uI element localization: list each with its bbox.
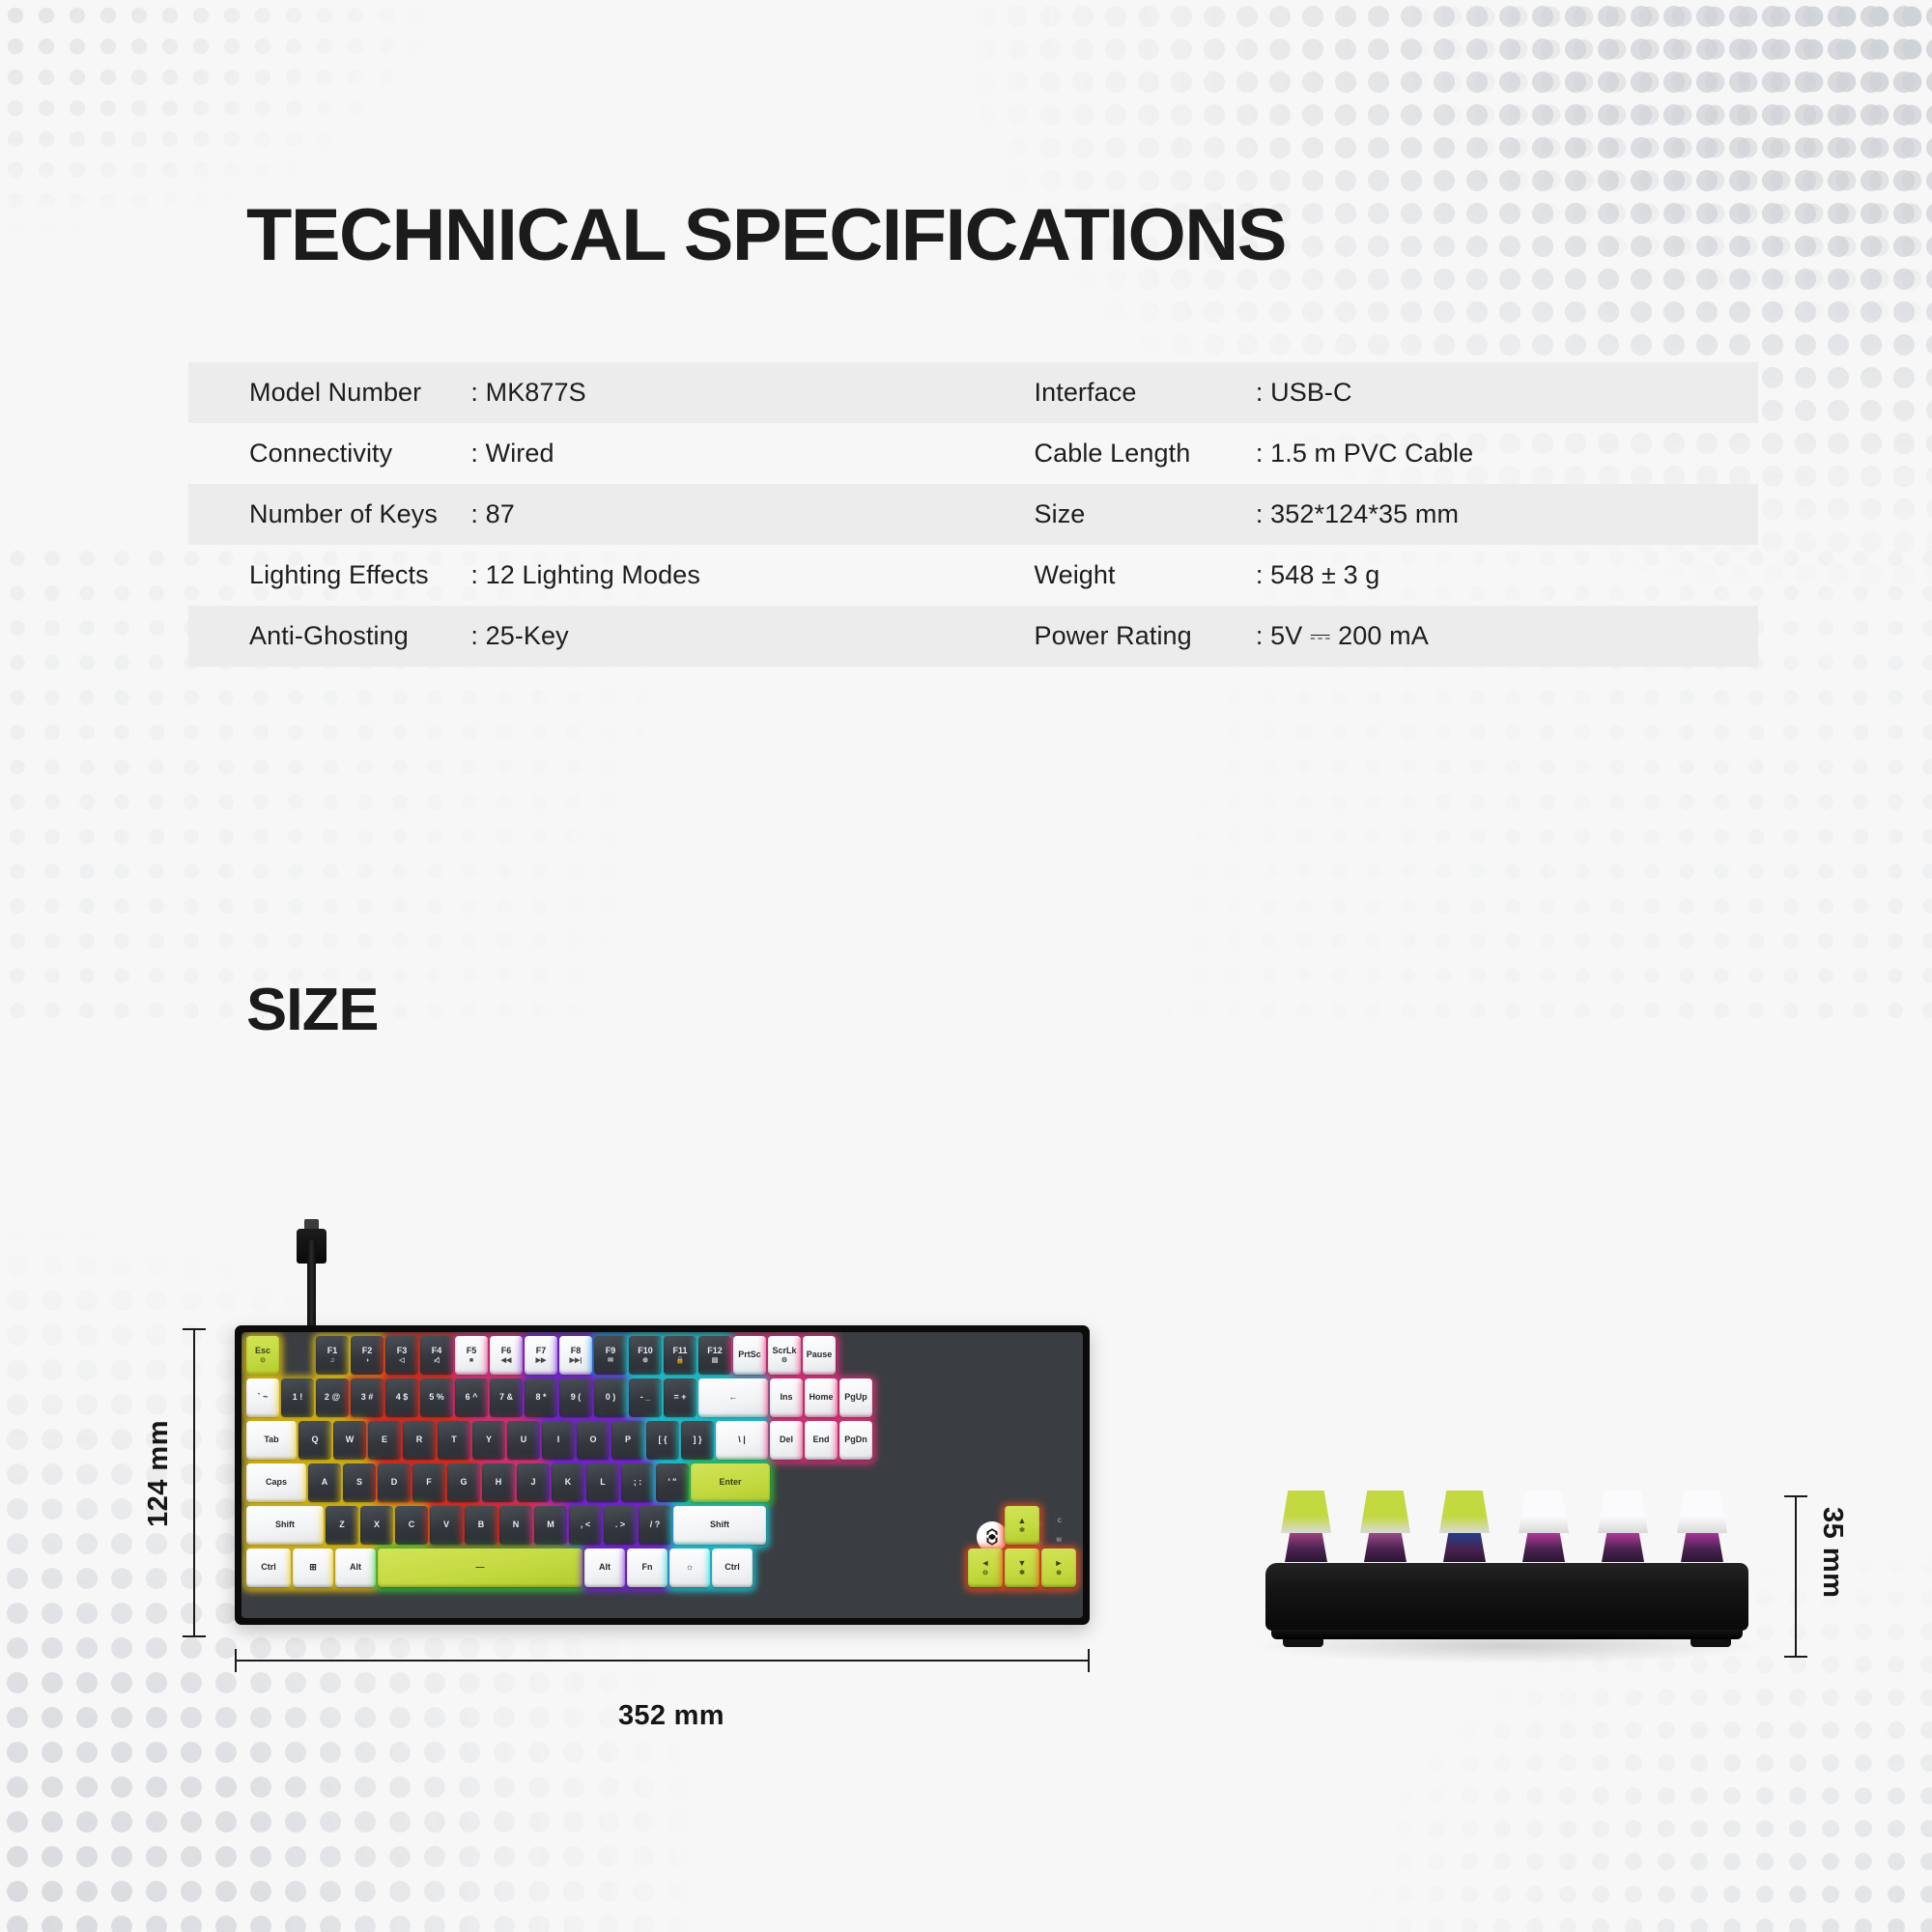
key-PgDn[interactable]: PgDn: [839, 1421, 872, 1460]
side-view-keycap: [1281, 1491, 1331, 1533]
keycap[interactable]: Shift: [673, 1506, 766, 1545]
keyboard-row-gap: [281, 1336, 314, 1375]
keycap[interactable]: F12▤: [698, 1336, 731, 1375]
keycap[interactable]: Y: [472, 1421, 505, 1460]
keycap-label: 0 ): [606, 1393, 616, 1402]
key-C[interactable]: C: [395, 1506, 428, 1545]
spec-label-right-text: Size: [1035, 499, 1086, 529]
key-[interactable]: , <: [569, 1506, 602, 1545]
keycap[interactable]: PrtSc: [733, 1336, 766, 1375]
keycap[interactable]: Ctrl: [246, 1548, 291, 1587]
keycap-label: F7: [536, 1347, 547, 1355]
keycap-secondary-icon: ▶▶|: [570, 1357, 582, 1364]
key-Shift[interactable]: Shift: [673, 1506, 766, 1545]
spec-label-right: Weight: [974, 560, 1256, 590]
key-3[interactable]: 3 #: [351, 1378, 384, 1417]
key-9[interactable]: 9 (: [559, 1378, 592, 1417]
keycap-label: G: [460, 1478, 467, 1487]
indicator-label-2: W: [1056, 1538, 1062, 1544]
side-view-keycap: [1598, 1491, 1648, 1533]
key-X[interactable]: X: [360, 1506, 393, 1545]
keycap[interactable]: F9✉: [594, 1336, 627, 1375]
spec-value-left: : Wired: [470, 439, 973, 469]
keycap-secondary-icon: ⊕: [642, 1357, 648, 1364]
height-dimension-label: 35 mm: [1816, 1507, 1848, 1598]
spec-label-left-text: Lighting Effects: [249, 560, 429, 590]
keycap[interactable]: F3◁: [385, 1336, 418, 1375]
key-F[interactable]: F: [412, 1463, 445, 1502]
spec-label-left-text: Anti-Ghosting: [249, 621, 409, 651]
keycap-secondary-icon: ⊖: [982, 1570, 988, 1577]
keycap-label: ; :: [634, 1478, 642, 1487]
keycap[interactable]: F7▶▶: [525, 1336, 557, 1375]
keycap-secondary-icon: ♫: [329, 1357, 334, 1364]
keycap[interactable]: 8 *: [525, 1378, 557, 1417]
keycap-label: V: [443, 1520, 449, 1529]
arrow-key-up[interactable]: ▲✻: [1005, 1506, 1039, 1545]
keycap[interactable]: . >: [604, 1506, 637, 1545]
keycap[interactable]: F8▶▶|: [559, 1336, 592, 1375]
key-F12[interactable]: F12▤: [698, 1336, 731, 1375]
key-Del[interactable]: Del: [770, 1421, 803, 1460]
keycap-label: M: [547, 1520, 554, 1529]
keycap-label: - _: [640, 1393, 651, 1402]
keycap-label: ' ": [668, 1478, 677, 1487]
keycap-label: Ctrl: [261, 1563, 276, 1572]
key-E[interactable]: E: [368, 1421, 401, 1460]
spec-value-left: : MK877S: [470, 378, 973, 408]
key-[interactable]: = +: [664, 1378, 696, 1417]
spec-value-right: : 548 ± 3 g: [1256, 560, 1758, 590]
keycap-label: N: [513, 1520, 520, 1529]
key-[interactable]: / ?: [639, 1506, 671, 1545]
keycap-label: Fn: [642, 1563, 653, 1572]
keycap-label: P: [625, 1435, 631, 1444]
key-I[interactable]: I: [542, 1421, 575, 1460]
key-[interactable]: ☼: [669, 1548, 710, 1587]
side-view-keycap: [1360, 1491, 1410, 1533]
spec-row: Connectivity: WiredCable Length: 1.5 m P…: [188, 423, 1758, 484]
key-F1[interactable]: F1♫: [316, 1336, 349, 1375]
keycap[interactable]: F5■: [455, 1336, 488, 1375]
spec-value-right-text: : 548 ± 3 g: [1256, 560, 1380, 590]
spec-row: Number of Keys: 87Size: 352*124*35 mm: [188, 484, 1758, 545]
keycap[interactable]: V: [430, 1506, 463, 1545]
key-F5[interactable]: F5■: [455, 1336, 488, 1375]
keycap-label: U: [521, 1435, 527, 1444]
key-Enter[interactable]: Enter: [691, 1463, 770, 1502]
keycap[interactable]: ◄⊖: [968, 1548, 1003, 1587]
side-view-key: [1360, 1491, 1410, 1562]
keycap[interactable]: F2◑: [351, 1336, 384, 1375]
key-6[interactable]: 6 ^: [455, 1378, 488, 1417]
height-dimension-line: [1795, 1495, 1797, 1658]
keycap[interactable]: ►⊛: [1041, 1548, 1076, 1587]
key-A[interactable]: A: [308, 1463, 341, 1502]
key-F7[interactable]: F7▶▶: [525, 1336, 557, 1375]
keycap[interactable]: Fn: [627, 1548, 668, 1587]
keycap[interactable]: = +: [664, 1378, 696, 1417]
keycap[interactable]: X: [360, 1506, 393, 1545]
key-[interactable]: \ |: [716, 1421, 768, 1460]
keycap-label: ←: [729, 1393, 738, 1402]
keycap[interactable]: Home: [805, 1378, 838, 1417]
key-[interactable]: ` ~: [246, 1378, 279, 1417]
key-[interactable]: ←: [698, 1378, 768, 1417]
keycap-label: F1: [327, 1347, 338, 1355]
keycap-label: Q: [311, 1435, 318, 1444]
keycap-label: Caps: [266, 1478, 287, 1487]
keycap-label: Y: [486, 1435, 492, 1444]
side-view-keycap: [1519, 1491, 1569, 1533]
spec-label-left: Connectivity: [188, 439, 470, 469]
key-F9[interactable]: F9✉: [594, 1336, 627, 1375]
keycap[interactable]: H: [482, 1463, 515, 1502]
key-7[interactable]: 7 &: [490, 1378, 523, 1417]
keycap[interactable]: F11🔒: [664, 1336, 696, 1375]
keycap-label: Shift: [710, 1520, 729, 1529]
keycap[interactable]: 6 ^: [455, 1378, 488, 1417]
keycap-label: F11: [672, 1347, 687, 1355]
key-Z[interactable]: Z: [326, 1506, 358, 1545]
keycap-label: . >: [615, 1520, 625, 1529]
key-Alt[interactable]: Alt: [335, 1548, 376, 1587]
keycap[interactable]: Caps: [246, 1463, 306, 1502]
keycap-label: T: [451, 1435, 457, 1444]
arrow-key-down[interactable]: ▼✱: [1005, 1548, 1039, 1587]
keycap[interactable]: —: [378, 1548, 582, 1587]
key-V[interactable]: V: [430, 1506, 463, 1545]
keycap[interactable]: B: [465, 1506, 497, 1545]
keycap-label: F3: [397, 1347, 408, 1355]
side-view-keycap: [1439, 1491, 1490, 1533]
keycap-secondary-icon: ✉: [608, 1357, 613, 1364]
key-[interactable]: ' ": [656, 1463, 689, 1502]
keycap-label: F10: [638, 1347, 653, 1355]
keycap[interactable]: L: [586, 1463, 619, 1502]
key-4[interactable]: 4 $: [385, 1378, 418, 1417]
spec-value-right-text: : 1.5 m PVC Cable: [1256, 439, 1473, 469]
depth-dimension-line: [193, 1328, 195, 1637]
keycap-label: C: [409, 1520, 415, 1529]
spec-label-right: Cable Length: [974, 439, 1256, 469]
keycap[interactable]: - _: [629, 1378, 662, 1417]
key-[interactable]: - _: [629, 1378, 662, 1417]
keycap-secondary-icon: ■: [469, 1357, 473, 1364]
key-B[interactable]: B: [465, 1506, 497, 1545]
keycap[interactable]: M: [534, 1506, 567, 1545]
keycap-label: = +: [673, 1393, 686, 1402]
key-8[interactable]: 8 *: [525, 1378, 557, 1417]
key-O[interactable]: O: [577, 1421, 610, 1460]
keycap[interactable]: 9 (: [559, 1378, 592, 1417]
keycap-secondary-icon: ✻: [1019, 1527, 1025, 1534]
key-End[interactable]: End: [805, 1421, 838, 1460]
keycap[interactable]: 5 %: [420, 1378, 453, 1417]
keycap[interactable]: 7 &: [490, 1378, 523, 1417]
keycap[interactable]: Z: [326, 1506, 358, 1545]
keycap-label: Pause: [807, 1350, 833, 1359]
keycap[interactable]: 1 !: [281, 1378, 314, 1417]
keycap[interactable]: [ {: [646, 1421, 679, 1460]
keycap[interactable]: 4 $: [385, 1378, 418, 1417]
key-[interactable]: [ {: [646, 1421, 679, 1460]
keycap-label: F9: [606, 1347, 616, 1355]
keycap[interactable]: Q: [298, 1421, 331, 1460]
keycap-label: PgDn: [844, 1435, 867, 1444]
keycap[interactable]: W: [333, 1421, 366, 1460]
keycap-secondary-icon: ⊙: [260, 1357, 266, 1364]
key-Caps[interactable]: Caps: [246, 1463, 306, 1502]
key-Pause[interactable]: Pause: [803, 1336, 836, 1375]
key-[interactable]: ; :: [621, 1463, 654, 1502]
keycap[interactable]: J: [517, 1463, 550, 1502]
keyboard-row-qwerty-row: TabQWERTYUIOP[ {] }\ |DelEndPgDn: [241, 1421, 872, 1460]
side-view-keycap: [1677, 1491, 1727, 1533]
key-Alt[interactable]: Alt: [584, 1548, 625, 1587]
key-[interactable]: ⊞: [293, 1548, 333, 1587]
keycap-label: F6: [501, 1347, 512, 1355]
spec-label-left: Lighting Effects: [188, 560, 470, 590]
keycap[interactable]: PgUp: [839, 1378, 872, 1417]
key-T[interactable]: T: [438, 1421, 470, 1460]
keycap[interactable]: Tab: [246, 1421, 297, 1460]
keycap[interactable]: ] }: [681, 1421, 714, 1460]
keycap-label: Del: [780, 1435, 793, 1444]
keycap-secondary-icon: ⚙: [781, 1357, 787, 1364]
key-ScrLk[interactable]: ScrLk⚙: [768, 1336, 801, 1375]
page-title-technical-specifications: TECHNICAL SPECIFICATIONS: [246, 193, 1286, 277]
key-Y[interactable]: Y: [472, 1421, 505, 1460]
keycap[interactable]: Esc⊙: [246, 1336, 279, 1375]
key-N[interactable]: N: [499, 1506, 532, 1545]
keycap-label: 9 (: [571, 1393, 582, 1402]
side-view-key: [1439, 1491, 1490, 1562]
section-title-size: SIZE: [246, 976, 378, 1044]
specifications-table: Model Number: MK877SInterface: USB-CConn…: [188, 362, 1758, 667]
key-U[interactable]: U: [507, 1421, 540, 1460]
key-L[interactable]: L: [586, 1463, 619, 1502]
keyboard-row-function-row: Esc⊙F1♫F2◑F3◁F4◁̸F5■F6◀◀F7▶▶F8▶▶|F9✉F10⊕…: [241, 1336, 836, 1375]
keycap-label: 1 !: [293, 1393, 303, 1402]
keycap[interactable]: ` ~: [246, 1378, 279, 1417]
keycap-label: ▲: [1018, 1517, 1027, 1525]
keycap-label: O: [589, 1435, 596, 1444]
keycap-secondary-icon: 🔒: [676, 1357, 685, 1364]
keycap-label: F12: [707, 1347, 723, 1355]
keycap-label: R: [416, 1435, 423, 1444]
keycap[interactable]: Ins: [770, 1378, 803, 1417]
width-dimension-line: [235, 1660, 1090, 1662]
keycap[interactable]: R: [403, 1421, 436, 1460]
keycap-label: ▼: [1018, 1559, 1027, 1568]
keycap[interactable]: Alt: [584, 1548, 625, 1587]
keycap[interactable]: ←: [698, 1378, 768, 1417]
keycap[interactable]: , <: [569, 1506, 602, 1545]
keyboard-side-view: [1256, 1449, 1758, 1666]
key-D[interactable]: D: [378, 1463, 411, 1502]
keycap[interactable]: PgDn: [839, 1421, 872, 1460]
keycap[interactable]: K: [552, 1463, 584, 1502]
keycap[interactable]: / ?: [639, 1506, 671, 1545]
keycap-secondary-icon: ▶▶: [536, 1357, 547, 1364]
keycap[interactable]: ☼: [669, 1548, 710, 1587]
spec-value-right: : 1.5 m PVC Cable: [1256, 439, 1758, 469]
keycap[interactable]: ' ": [656, 1463, 689, 1502]
key-Ins[interactable]: Ins: [770, 1378, 803, 1417]
keycap[interactable]: A: [308, 1463, 341, 1502]
keycap[interactable]: 0 ): [594, 1378, 627, 1417]
keycap-label: Alt: [599, 1563, 611, 1572]
keycap[interactable]: \ |: [716, 1421, 768, 1460]
keycap[interactable]: C: [395, 1506, 428, 1545]
spec-label-left-text: Connectivity: [249, 439, 392, 469]
key-Shift[interactable]: Shift: [246, 1506, 324, 1545]
keycap[interactable]: F10⊕: [629, 1336, 662, 1375]
keycap-label: 6 ^: [466, 1393, 478, 1402]
spec-value-left: : 87: [470, 499, 973, 529]
arrow-key-right[interactable]: ►⊛: [1041, 1548, 1076, 1587]
indicator-label-1: C: [1058, 1519, 1062, 1524]
keycap-label: Home: [809, 1393, 833, 1402]
keycap[interactable]: F6◀◀: [490, 1336, 523, 1375]
keycap[interactable]: ⊞: [293, 1548, 333, 1587]
key-G[interactable]: G: [447, 1463, 480, 1502]
key-Tab[interactable]: Tab: [246, 1421, 297, 1460]
keycap[interactable]: ▼✱: [1005, 1548, 1039, 1587]
keycap[interactable]: T: [438, 1421, 470, 1460]
keycap[interactable]: F4◁̸: [420, 1336, 453, 1375]
key-M[interactable]: M: [534, 1506, 567, 1545]
key-[interactable]: . >: [604, 1506, 637, 1545]
key-F2[interactable]: F2◑: [351, 1336, 384, 1375]
key-PrtSc[interactable]: PrtSc: [733, 1336, 766, 1375]
keycap-label: , <: [581, 1520, 590, 1529]
keycap-label: Z: [339, 1520, 345, 1529]
key-K[interactable]: K: [552, 1463, 584, 1502]
key-[interactable]: —: [378, 1548, 582, 1587]
keycap-label: S: [356, 1478, 362, 1487]
keycap[interactable]: Enter: [691, 1463, 770, 1502]
side-view-key: [1598, 1491, 1648, 1562]
keycap[interactable]: S: [343, 1463, 376, 1502]
spec-row: Lighting Effects: 12 Lighting ModesWeigh…: [188, 545, 1758, 606]
key-PgUp[interactable]: PgUp: [839, 1378, 872, 1417]
keycap[interactable]: ; :: [621, 1463, 654, 1502]
key-R[interactable]: R: [403, 1421, 436, 1460]
keycap[interactable]: U: [507, 1421, 540, 1460]
keycap[interactable]: D: [378, 1463, 411, 1502]
keycap[interactable]: N: [499, 1506, 532, 1545]
key-Ctrl[interactable]: Ctrl: [246, 1548, 291, 1587]
spec-label-left-text: Model Number: [249, 378, 421, 408]
keycap[interactable]: ScrLk⚙: [768, 1336, 801, 1375]
key-0[interactable]: 0 ): [594, 1378, 627, 1417]
keycap-label: 8 *: [535, 1393, 546, 1402]
spec-value-left: : 25-Key: [470, 621, 973, 651]
key-F10[interactable]: F10⊕: [629, 1336, 662, 1375]
keycap-label: PrtSc: [738, 1350, 761, 1359]
keycap[interactable]: Alt: [335, 1548, 376, 1587]
spec-label-right: Power Rating: [974, 621, 1256, 651]
key-F3[interactable]: F3◁: [385, 1336, 418, 1375]
keycap-label: / ?: [650, 1520, 661, 1529]
keycap[interactable]: P: [611, 1421, 644, 1460]
key-1[interactable]: 1 !: [281, 1378, 314, 1417]
keycap-label: J: [530, 1478, 535, 1487]
key-S[interactable]: S: [343, 1463, 376, 1502]
key-F8[interactable]: F8▶▶|: [559, 1336, 592, 1375]
keycap[interactable]: Pause: [803, 1336, 836, 1375]
keycap[interactable]: E: [368, 1421, 401, 1460]
keycap-label: [ {: [659, 1435, 668, 1444]
spec-label-right-text: Cable Length: [1035, 439, 1191, 469]
keycap[interactable]: F1♫: [316, 1336, 349, 1375]
side-view-key: [1281, 1491, 1331, 1562]
key-Fn[interactable]: Fn: [627, 1548, 668, 1587]
key-Q[interactable]: Q: [298, 1421, 331, 1460]
keycap-label: ScrLk: [772, 1347, 796, 1355]
key-Ctrl[interactable]: Ctrl: [712, 1548, 753, 1587]
keycap-label: 4 $: [396, 1393, 409, 1402]
keycap[interactable]: 3 #: [351, 1378, 384, 1417]
keycap[interactable]: Ctrl: [712, 1548, 753, 1587]
keycap-label: E: [382, 1435, 387, 1444]
spec-value-left-text: : 12 Lighting Modes: [470, 560, 700, 590]
arrow-key-left[interactable]: ◄⊖: [968, 1548, 1003, 1587]
keycap[interactable]: Shift: [246, 1506, 324, 1545]
key-W[interactable]: W: [333, 1421, 366, 1460]
spec-label-left: Number of Keys: [188, 499, 470, 529]
spec-row: Anti-Ghosting: 25-KeyPower Rating: 5V ⎓ …: [188, 606, 1758, 667]
keycap-label: —: [476, 1563, 485, 1572]
keycap-label: F8: [571, 1347, 582, 1355]
key-F11[interactable]: F11🔒: [664, 1336, 696, 1375]
key-5[interactable]: 5 %: [420, 1378, 453, 1417]
side-view-key: [1519, 1491, 1569, 1562]
keycap-label: F2: [362, 1347, 373, 1355]
keycap-label: A: [322, 1478, 328, 1487]
side-view-switch-glow: [1285, 1533, 1327, 1562]
keycap[interactable]: F: [412, 1463, 445, 1502]
key-2[interactable]: 2 @: [316, 1378, 349, 1417]
side-view-switch-glow: [1602, 1533, 1644, 1562]
key-F4[interactable]: F4◁̸: [420, 1336, 453, 1375]
key-Esc[interactable]: Esc⊙: [246, 1336, 279, 1375]
keycap[interactable]: I: [542, 1421, 575, 1460]
spec-value-left-text: : Wired: [470, 439, 554, 469]
spec-label-left-text: Number of Keys: [249, 499, 438, 529]
keycap[interactable]: ▲✻: [1005, 1506, 1039, 1545]
key-P[interactable]: P: [611, 1421, 644, 1460]
side-view-key: [1677, 1491, 1727, 1562]
keycap[interactable]: O: [577, 1421, 610, 1460]
depth-dimension-label: 124 mm: [143, 1420, 175, 1527]
keycap-label: ►: [1055, 1559, 1064, 1568]
keycap[interactable]: G: [447, 1463, 480, 1502]
keycap[interactable]: 2 @: [316, 1378, 349, 1417]
key-F6[interactable]: F6◀◀: [490, 1336, 523, 1375]
keyboard-row-shift-row: ShiftZXCVBNM, <. >/ ?Shift: [241, 1506, 766, 1545]
keycap[interactable]: Del: [770, 1421, 803, 1460]
key-J[interactable]: J: [517, 1463, 550, 1502]
keycap-label: 2 @: [325, 1393, 340, 1402]
key-H[interactable]: H: [482, 1463, 515, 1502]
key-[interactable]: ] }: [681, 1421, 714, 1460]
key-Home[interactable]: Home: [805, 1378, 838, 1417]
side-view-switch-glow: [1364, 1533, 1406, 1562]
keycap[interactable]: End: [805, 1421, 838, 1460]
